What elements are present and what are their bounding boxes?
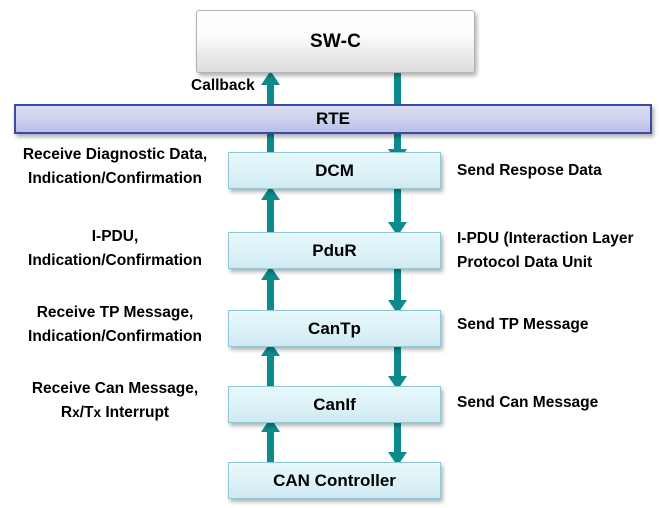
up-arrow-canctrl-to-canif — [256, 418, 285, 468]
label-line-1: I-PDU (Interaction Layer — [457, 227, 634, 251]
can-controller-label: CAN Controller — [273, 471, 396, 491]
rx-tx-t: /T — [80, 404, 94, 421]
label-line-1: Send TP Message — [457, 313, 589, 337]
label-line-1: Receive Diagnostic Data, — [8, 143, 222, 167]
rx-tx-x2: x — [93, 405, 101, 420]
rte-bar[interactable]: RTE — [14, 104, 652, 134]
label-send-respose-data: Send Respose Data — [457, 159, 602, 183]
pdur-label: PduR — [312, 241, 356, 261]
label-line-2: Indication/Confirmation — [8, 167, 222, 191]
label-line-1: I-PDU, — [8, 225, 222, 249]
rx-tx-r: R — [61, 404, 72, 421]
label-send-tp-message: Send TP Message — [457, 313, 589, 337]
canif-label: CanIf — [313, 395, 356, 415]
cantp-box[interactable]: CanTp — [228, 310, 441, 347]
label-line-2: Indication/Confirmation — [8, 325, 222, 349]
label-line-1: Send Respose Data — [457, 159, 602, 183]
down-arrow-dcm-to-pdur — [383, 186, 412, 236]
label-ipdu-expansion: I-PDU (Interaction Layer Protocol Data U… — [457, 227, 634, 275]
label-line-1: Send Can Message — [457, 391, 598, 415]
diagram-canvas: SW-C RTE DCM PduR CanTp CanIf CAN Contro… — [0, 0, 663, 508]
label-line-2: Protocol Data Unit — [457, 251, 634, 275]
down-arrow-canif-to-canctrl — [383, 420, 412, 466]
down-arrow-pdur-to-cantp — [383, 266, 412, 314]
label-line-1: Receive Can Message, — [8, 377, 222, 401]
cantp-label: CanTp — [308, 319, 361, 339]
callback-label: Callback — [191, 77, 255, 95]
label-receive-can-message: Receive Can Message, Rx/Tx Interrupt — [8, 377, 222, 425]
up-arrow-canif-to-cantp — [256, 342, 285, 392]
dcm-box[interactable]: DCM — [228, 152, 441, 189]
up-arrow-pdur-to-dcm — [256, 186, 285, 236]
rx-tx-interrupt: Interrupt — [101, 404, 169, 421]
swc-box[interactable]: SW-C — [196, 10, 475, 73]
label-ipdu-indication: I-PDU, Indication/Confirmation — [8, 225, 222, 273]
canif-box[interactable]: CanIf — [228, 386, 441, 423]
label-line-1: Receive TP Message, — [8, 301, 222, 325]
down-arrow-cantp-to-canif — [383, 344, 412, 390]
label-send-can-message: Send Can Message — [457, 391, 598, 415]
can-controller-box[interactable]: CAN Controller — [228, 462, 441, 499]
up-arrow-cantp-to-pdur — [256, 266, 285, 316]
pdur-box[interactable]: PduR — [228, 232, 441, 269]
dcm-label: DCM — [315, 161, 354, 181]
label-line-2: Indication/Confirmation — [8, 249, 222, 273]
label-line-2: Rx/Tx Interrupt — [8, 401, 222, 425]
rte-label: RTE — [316, 109, 350, 129]
label-receive-tp-message: Receive TP Message, Indication/Confirmat… — [8, 301, 222, 349]
rx-tx-x1: x — [72, 405, 80, 420]
label-receive-diagnostic-data: Receive Diagnostic Data, Indication/Conf… — [8, 143, 222, 191]
swc-label: SW-C — [310, 31, 361, 53]
